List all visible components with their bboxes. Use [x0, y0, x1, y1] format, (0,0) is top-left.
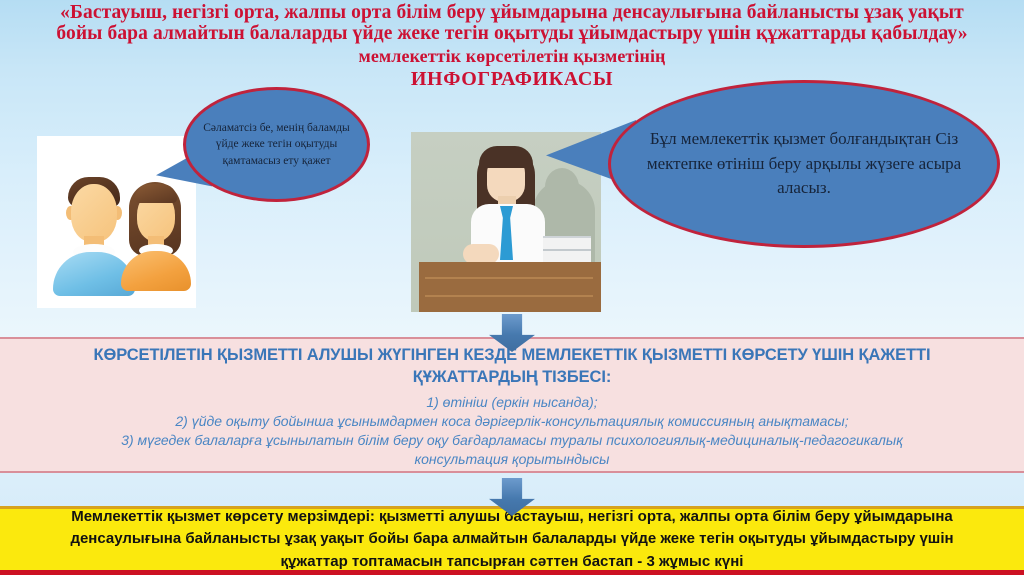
title-line-2: бойы бара алмайтын балаларды үйде жеке т…: [0, 23, 1024, 44]
speech-bubble-officer-text: Бұл мемлекеттік қызмет болғандықтан Сіз …: [646, 104, 962, 224]
head-shape: [71, 184, 117, 242]
service-term-panel: Мемлекеттік қызмет көрсету мерзімдері: қ…: [0, 506, 1024, 573]
infographic-page: «Бастауыш, негізгі орта, жалпы орта білі…: [0, 0, 1024, 575]
list-item: 2) үйде оқыту бойынша ұсынымдармен коса …: [0, 412, 1024, 431]
torso-shape: [121, 251, 191, 291]
service-term-line-3: құжаттар топтамасын тапсырған сәттен бас…: [70, 551, 953, 574]
list-item: 1) өтініш (еркін нысанда);: [0, 393, 1024, 412]
required-documents-list: 1) өтініш (еркін нысанда); 2) үйде оқыту…: [0, 393, 1024, 470]
service-term-line-2: денсаулығына байланысты ұзақ уақыт бойы …: [70, 528, 953, 551]
title-line-3: мемлекеттік көрсетілетін қызметінің: [0, 47, 1024, 67]
hair-fringe-shape: [135, 184, 177, 203]
title-line-4: ИНФОГРАФИКАСЫ: [0, 68, 1024, 90]
title-line-1: «Бастауыш, негізгі орта, жалпы орта білі…: [0, 2, 1024, 23]
desk-shape: [419, 262, 601, 312]
speech-bubble-citizen-text: Сәламатсіз бе, менің баламды үйде жеке т…: [201, 97, 352, 192]
teacher-fringe-shape: [479, 146, 533, 168]
list-item: 3) мүгедек балаларға ұсынылатын білім бе…: [0, 431, 1024, 450]
required-documents-panel: КӨРСЕТІЛЕТІН ҚЫЗМЕТТІ АЛУШЫ ЖҮГІНГЕН КЕЗ…: [0, 337, 1024, 473]
teacher-tie-shape: [500, 206, 513, 260]
speech-bubble-officer: Бұл мемлекеттік қызмет болғандықтан Сіз …: [608, 80, 1000, 248]
family-parents-image: [37, 136, 196, 308]
list-item: консультация қорытындысы: [0, 450, 1024, 469]
speech-bubble-citizen: Сәламатсіз бе, менің баламды үйде жеке т…: [183, 87, 370, 202]
desk-edge-line-2: [425, 295, 593, 297]
page-title: «Бастауыш, негізгі орта, жалпы орта білі…: [0, 2, 1024, 90]
teacher-arm-shape: [463, 244, 499, 264]
desk-edge-line-1: [425, 277, 593, 279]
